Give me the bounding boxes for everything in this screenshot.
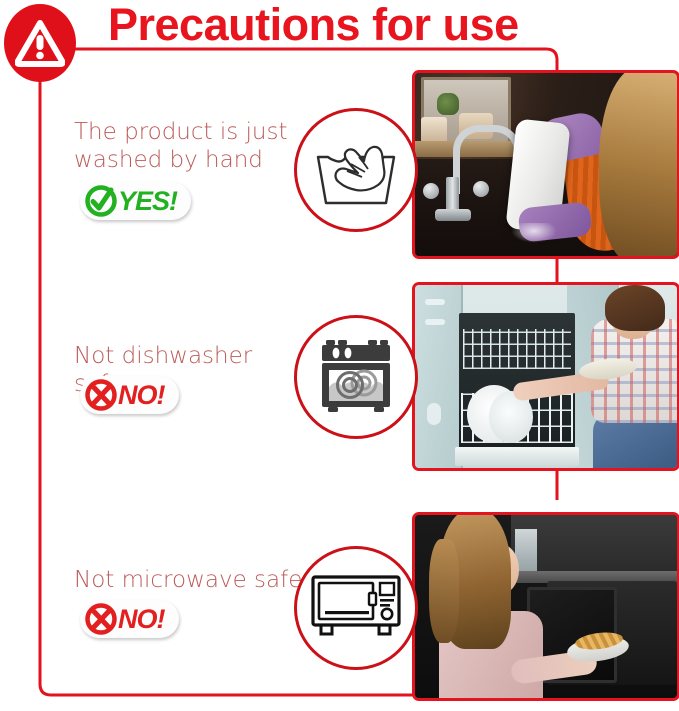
- photo-dishwasher: [412, 282, 679, 471]
- dishwasher-icon: [294, 315, 418, 439]
- page-title: Precautions for use: [108, 0, 519, 51]
- warning-triangle-icon: [4, 4, 76, 82]
- row-hand-wash-text: The product is just washed by hand: [74, 118, 289, 174]
- hand-wash-icon: [294, 108, 418, 232]
- yes-badge-label: YES!: [118, 186, 177, 217]
- check-circle-icon: [83, 183, 119, 219]
- photo-hand-washing: [412, 70, 679, 259]
- yes-badge: YES!: [80, 182, 191, 220]
- row-microwave-text: Not microwave safe: [74, 566, 304, 594]
- x-circle-icon: [83, 377, 119, 413]
- microwave-icon: [294, 546, 418, 670]
- no-badge-microwave: NO!: [80, 600, 179, 638]
- photo-microwave: [412, 512, 679, 701]
- precautions-poster: Precautions for use The product is just …: [0, 0, 679, 711]
- x-circle-icon: [83, 601, 119, 637]
- row-microwave: Not microwave safe NO!: [0, 560, 679, 690]
- no-badge-dishwasher: NO!: [80, 376, 179, 414]
- no-badge-label: NO!: [118, 604, 165, 635]
- row-hand-wash: The product is just washed by hand YES!: [0, 118, 679, 248]
- no-badge-label: NO!: [118, 380, 165, 411]
- row-dishwasher: Not dishwasher safe NO!: [0, 340, 679, 470]
